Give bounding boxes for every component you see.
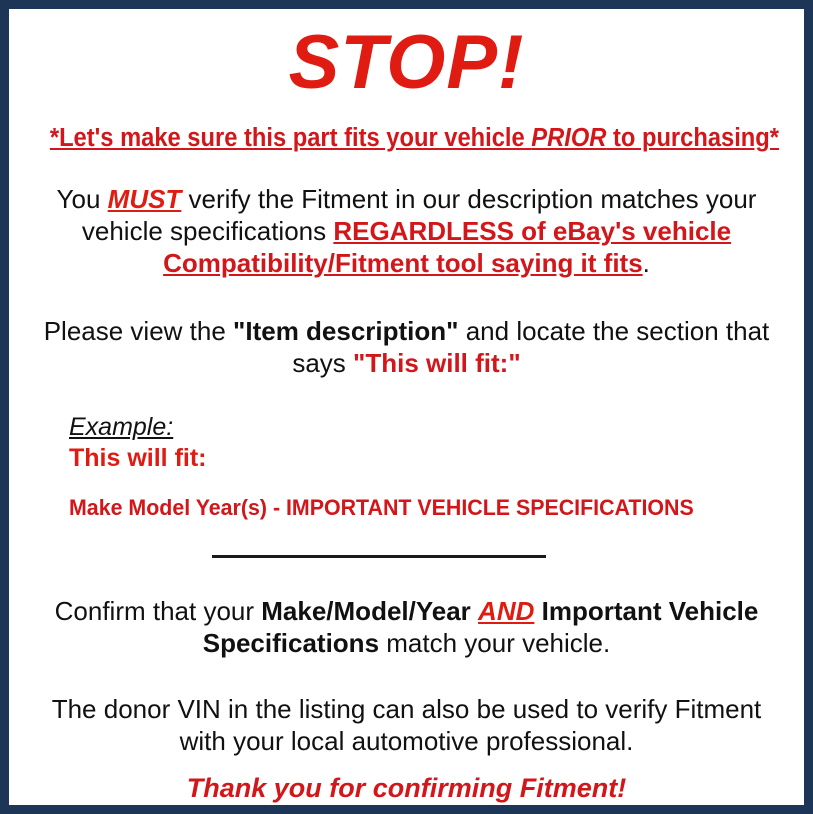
make-model-year-emphasis: Make/Model/Year <box>261 596 471 626</box>
and-emphasis: AND <box>478 596 534 626</box>
donor-vin-paragraph: The donor VIN in the listing can also be… <box>23 693 790 757</box>
confirm-paragraph: Confirm that your Make/Model/Year AND Im… <box>23 595 790 659</box>
confirm-part1: Confirm that your <box>55 596 262 626</box>
view-part1: Please view the <box>44 316 233 346</box>
notice-content: STOP! *Let's make sure this part fits yo… <box>9 9 804 805</box>
this-will-fit-quote: "This will fit:" <box>353 348 521 378</box>
must-part3: . <box>643 248 650 278</box>
must-emphasis: MUST <box>108 184 182 214</box>
must-part1: You <box>57 184 108 214</box>
example-label: Example: <box>69 413 173 441</box>
horizontal-rule <box>212 555 546 558</box>
closing-thanks: Thank you for confirming Fitment! <box>23 771 790 805</box>
item-description-label: "Item description" <box>233 316 458 346</box>
stop-heading: STOP! <box>23 9 790 109</box>
example-fit-heading: This will fit: <box>69 443 790 473</box>
divider-wrapper <box>23 545 790 563</box>
must-verify-paragraph: You MUST verify the Fitment in our descr… <box>23 183 790 279</box>
fitment-notice-card: STOP! *Let's make sure this part fits yo… <box>0 0 813 814</box>
confirm-part2: match your vehicle. <box>379 628 610 658</box>
subtitle-suffix: to purchasing* <box>606 124 779 152</box>
example-spec-line: Make Model Year(s) - IMPORTANT VEHICLE S… <box>69 495 754 521</box>
example-block: Example: This will fit: Make Model Year(… <box>23 413 790 521</box>
item-description-paragraph: Please view the "Item description" and l… <box>23 315 790 379</box>
subtitle-prior-emphasis: PRIOR <box>531 124 606 152</box>
subtitle-prefix: *Let's make sure this part fits your veh… <box>50 124 531 152</box>
subtitle-line: *Let's make sure this part fits your veh… <box>50 123 763 153</box>
